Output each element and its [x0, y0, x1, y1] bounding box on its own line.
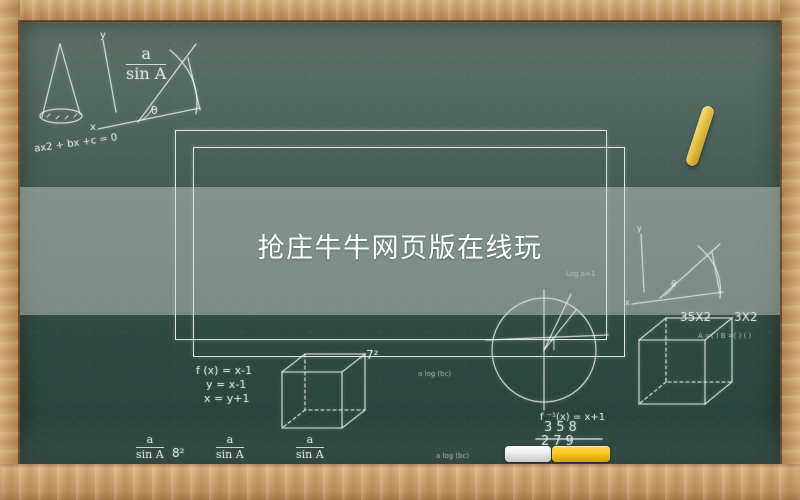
angle-arc — [170, 50, 197, 114]
frame-bottom-ledge — [0, 464, 800, 500]
frame-left-rail — [0, 0, 20, 500]
cube-b-right-face — [705, 318, 732, 404]
cube-a-hidden-edges — [305, 354, 365, 410]
cube-b-hidden-diag — [639, 382, 666, 404]
angle-x-axis — [98, 108, 200, 129]
chalk-tray-white — [505, 446, 551, 462]
angle-y-axis — [103, 40, 116, 112]
chalkboard-banner: a sin A y x θ ax2 + bx +c = 0 y x θ f (x… — [0, 0, 800, 500]
chalkboard-surface: a sin A y x θ ax2 + bx +c = 0 y x θ f (x… — [20, 22, 780, 464]
cube-a-right-face — [342, 354, 365, 428]
cube-b-hidden-edges — [666, 318, 732, 382]
cube-b-front-face — [639, 340, 705, 404]
chalk-dust-gradient — [20, 418, 780, 464]
cone-right-edge — [60, 44, 80, 114]
cone-base-hatch — [47, 114, 77, 119]
chalk-tray-yellow — [552, 446, 610, 462]
right-angle-x-axis — [632, 292, 723, 304]
frame-right-rail — [780, 0, 800, 500]
frame-top-rail — [0, 0, 800, 22]
cone-left-edge — [42, 44, 60, 117]
cube-b-top-face — [639, 318, 732, 340]
page-title: 抢庄牛牛网页版在线玩 — [20, 226, 780, 265]
fraction-a-over-sinA-topleft: a sin A — [126, 46, 166, 83]
